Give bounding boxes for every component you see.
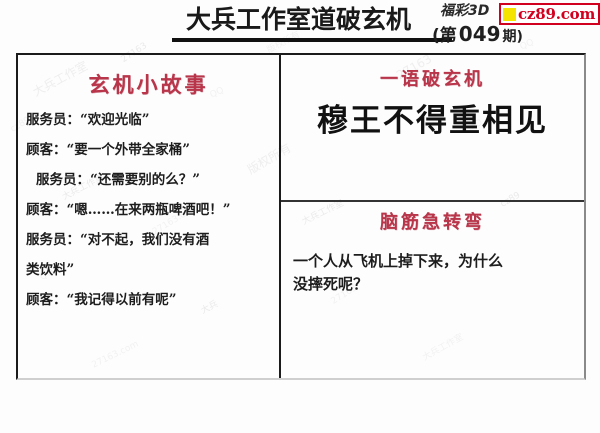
right-column: 一语破玄机 穆王不得重相见 脑筋急转弯 一个人从飞机上掉下来，为什么 没摔死呢？ bbox=[281, 55, 584, 378]
story-line: 服务员：“还需要别的么？” bbox=[18, 173, 279, 188]
panel-story: 玄机小故事 服务员：“欢迎光临” 顾客：“要一个外带全家桶” 服务员：“还需要别… bbox=[18, 55, 281, 378]
story-line: 服务员：“欢迎光临” bbox=[18, 113, 279, 128]
story-line: 服务员：“对不起，我们没有酒 bbox=[18, 233, 279, 248]
issue-suffix: 期) bbox=[503, 29, 523, 45]
story-line: 顾客：“嗯……在来两瓶啤酒吧！” bbox=[18, 203, 279, 218]
panel-riddle-title: 脑筋急转弯 bbox=[281, 212, 584, 233]
panel-story-title: 玄机小故事 bbox=[18, 73, 279, 97]
story-line: 类饮料” bbox=[18, 263, 279, 278]
page-root: 大兵工作室 27163 QQ 版权所有 大兵工作室 27163.com 大兵工作… bbox=[0, 0, 600, 433]
lottery-name-label: 福彩3D bbox=[440, 3, 489, 19]
page-header: 大兵工作室道破玄机 福彩3D (第049期) cz89.com bbox=[0, 0, 600, 53]
story-line: 顾客：“我记得以前有呢” bbox=[18, 293, 279, 308]
title-underline-rule bbox=[172, 38, 452, 42]
panel-oracle: 一语破玄机 穆王不得重相见 bbox=[281, 55, 584, 202]
riddle-question: 一个人从飞机上掉下来，为什么 没摔死呢？ bbox=[293, 250, 574, 296]
riddle-question-line: 没摔死呢？ bbox=[293, 273, 574, 296]
content-frame: 玄机小故事 服务员：“欢迎光临” 顾客：“要一个外带全家桶” 服务员：“还需要别… bbox=[16, 53, 586, 380]
issue-number: 049 bbox=[457, 22, 503, 46]
panel-oracle-title: 一语破玄机 bbox=[281, 69, 584, 90]
riddle-question-line: 一个人从飞机上掉下来，为什么 bbox=[293, 250, 574, 273]
logo-square-icon bbox=[503, 8, 516, 21]
panel-riddle: 脑筋急转弯 一个人从飞机上掉下来，为什么 没摔死呢？ bbox=[281, 202, 584, 378]
story-line: 顾客：“要一个外带全家桶” bbox=[18, 143, 279, 158]
site-logo[interactable]: cz89.com bbox=[499, 3, 600, 25]
story-lines-list: 服务员：“欢迎光临” 顾客：“要一个外带全家桶” 服务员：“还需要别的么？” 顾… bbox=[18, 113, 279, 323]
oracle-phrase: 穆王不得重相见 bbox=[281, 101, 584, 141]
issue-prefix: (第 bbox=[432, 26, 457, 46]
site-logo-text: cz89.com bbox=[518, 7, 595, 22]
page-title: 大兵工作室道破玄机 bbox=[186, 7, 411, 33]
issue-number-label: (第049期) bbox=[432, 24, 523, 47]
